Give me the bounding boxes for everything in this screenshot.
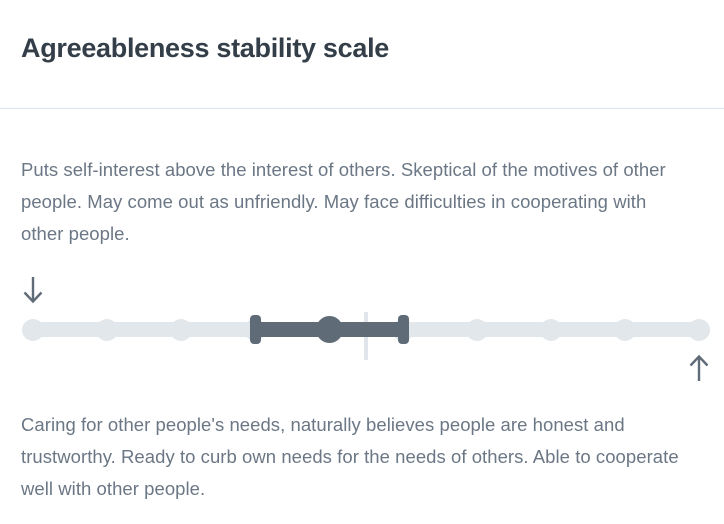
stability-scale-slider[interactable]	[0, 299, 724, 359]
page-title: Agreeableness stability scale	[21, 30, 389, 66]
scale-tick[interactable]	[540, 319, 562, 341]
scale-range-end-handle[interactable]	[398, 315, 409, 344]
high-pole-description: Caring for other people's needs, natural…	[21, 409, 707, 505]
scale-tick[interactable]	[96, 319, 118, 341]
page-header: Agreeableness stability scale	[0, 0, 724, 109]
scale-tick[interactable]	[22, 319, 44, 341]
scale-tick[interactable]	[688, 319, 710, 341]
scale-tick[interactable]	[466, 319, 488, 341]
low-pole-description: Puts self-interest above the interest of…	[21, 154, 683, 250]
scale-tick[interactable]	[170, 319, 192, 341]
scale-tick[interactable]	[614, 319, 636, 341]
scale-body: Puts self-interest above the interest of…	[0, 109, 724, 524]
scale-range-start-handle[interactable]	[250, 315, 261, 344]
agreeableness-scale-page: Agreeableness stability scale Puts self-…	[0, 0, 724, 524]
arrow-up-icon	[686, 353, 712, 383]
scale-value-handle[interactable]	[316, 316, 343, 343]
